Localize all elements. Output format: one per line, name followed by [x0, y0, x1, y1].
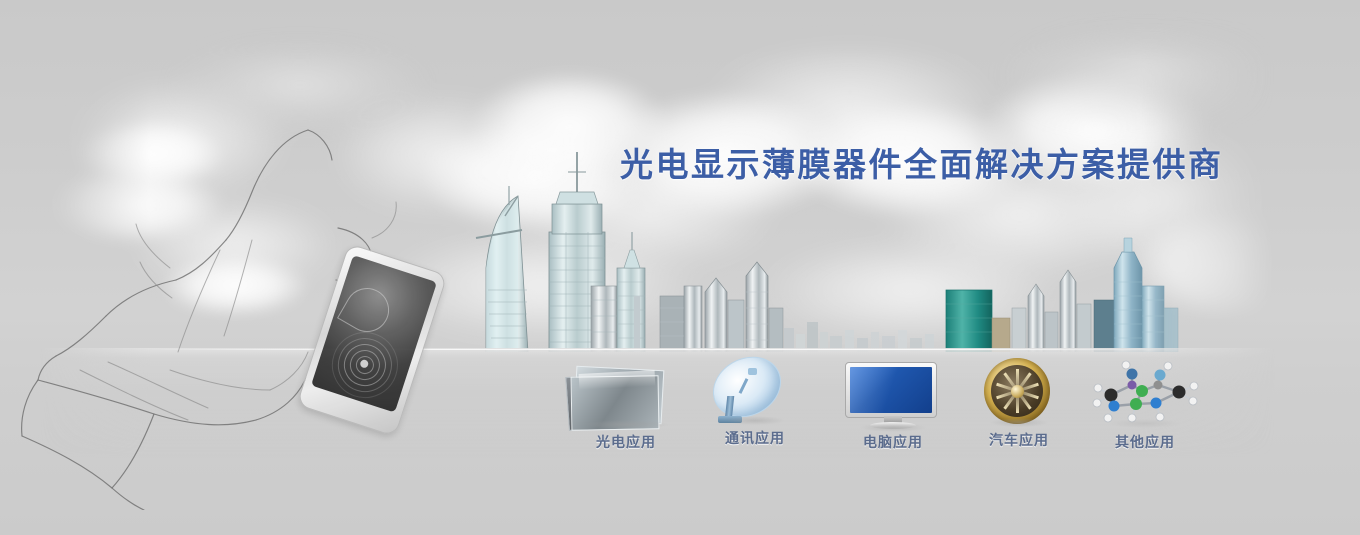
- app-label-optoelectronic: 光电应用: [561, 432, 691, 452]
- molecule-model-icon: [1080, 358, 1210, 430]
- page-title: 光电显示薄膜器件全面解决方案提供商: [620, 138, 1224, 186]
- computer-monitor-icon: [828, 358, 958, 430]
- app-item-automotive[interactable]: 汽车应用: [954, 356, 1084, 450]
- app-label-automotive: 汽车应用: [954, 430, 1084, 450]
- app-label-other: 其他应用: [1080, 432, 1210, 452]
- app-item-other[interactable]: 其他应用: [1080, 358, 1210, 452]
- satellite-dish-icon: [690, 354, 820, 426]
- molecule-svg: [1080, 358, 1210, 428]
- app-label-computer: 电脑应用: [828, 432, 958, 452]
- application-icon-strip: 光电应用 通讯应用 电脑应用: [0, 352, 1360, 472]
- app-item-computer[interactable]: 电脑应用: [828, 358, 958, 452]
- app-item-communication[interactable]: 通讯应用: [690, 354, 820, 448]
- car-wheel-icon: [954, 356, 1084, 428]
- app-label-communication: 通讯应用: [690, 428, 820, 448]
- banner-stage: 光电显示薄膜器件全面解决方案提供商 光电应用 通讯应用: [0, 0, 1360, 535]
- glass-film-plates-icon: [561, 358, 691, 430]
- app-item-optoelectronic[interactable]: 光电应用: [561, 358, 691, 452]
